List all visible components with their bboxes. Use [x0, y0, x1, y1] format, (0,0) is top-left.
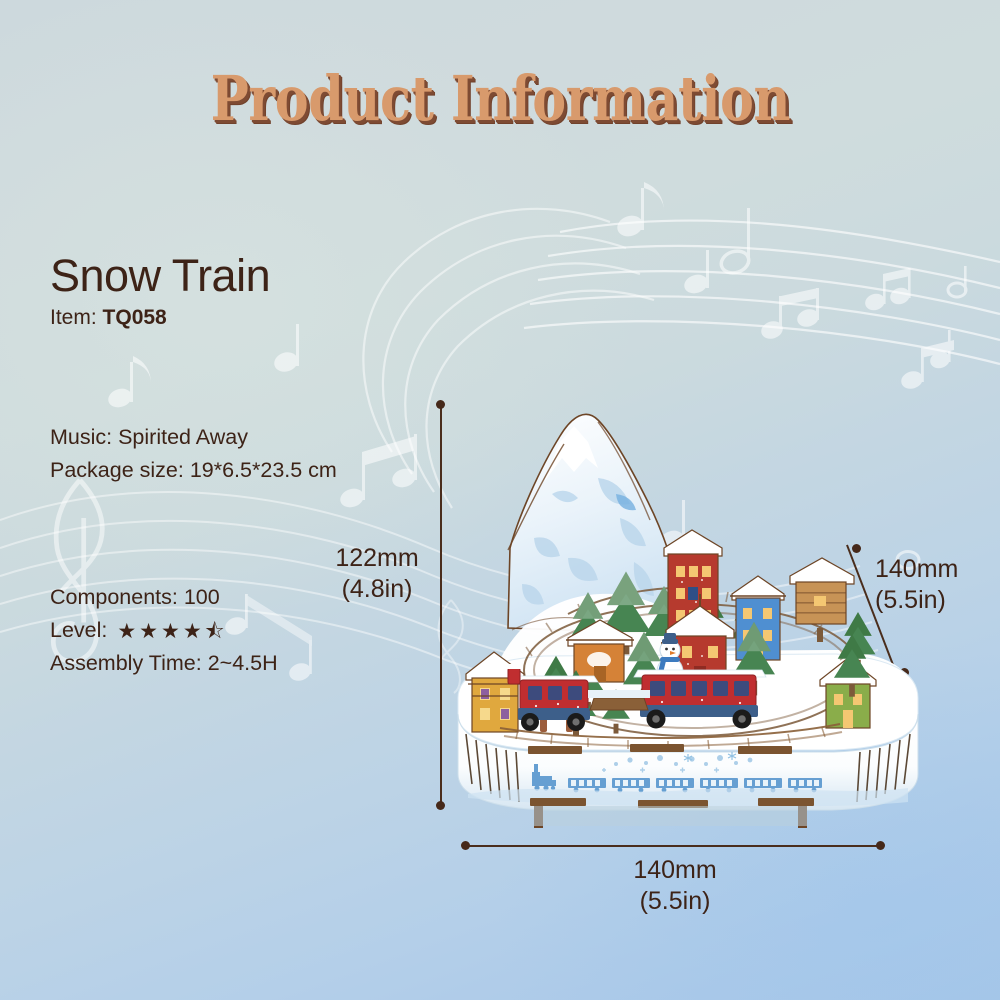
height-dimension-line — [440, 407, 442, 805]
page-title: Product Information — [210, 62, 790, 135]
level-label: Level: — [50, 618, 107, 642]
item-label: Item: — [50, 306, 97, 329]
train-platform — [588, 690, 650, 710]
level-star-rating: ★★★★⯪ — [117, 615, 227, 648]
width-dimension-line — [466, 845, 880, 847]
height-mm: 122mm — [318, 543, 436, 574]
width-mm: 140mm — [600, 855, 750, 886]
height-inch: (4.8in) — [318, 574, 436, 605]
product-illustration — [448, 398, 928, 828]
height-dimension-endpoint-bottom — [436, 801, 445, 810]
width-dimension-endpoint-left — [461, 841, 470, 850]
product-name: Snow Train — [50, 252, 450, 299]
height-dimension-endpoint-top — [436, 400, 445, 409]
height-dimension-label: 122mm (4.8in) — [318, 543, 436, 605]
spec-level: Level: ★★★★⯪ — [50, 614, 470, 647]
page-title-container: Product Information — [0, 62, 1000, 135]
product-info-block: Snow Train Item: TQ058 — [50, 252, 450, 330]
width-inch: (5.5in) — [600, 886, 750, 917]
spec-assembly-time: Assembly Time: 2~4.5H — [50, 647, 470, 680]
product-item-line: Item: TQ058 — [50, 306, 450, 330]
wooden-cabin — [790, 558, 854, 624]
spec-music: Music: Spirited Away — [50, 421, 470, 454]
spec-package-size: Package size: 19*6.5*23.5 cm — [50, 454, 470, 487]
item-code: TQ058 — [103, 306, 167, 329]
width-dimension-label: 140mm (5.5in) — [600, 855, 750, 917]
width-dimension-endpoint-right — [876, 841, 885, 850]
spec-group-primary: Music: Spirited Away Package size: 19*6.… — [50, 421, 470, 487]
